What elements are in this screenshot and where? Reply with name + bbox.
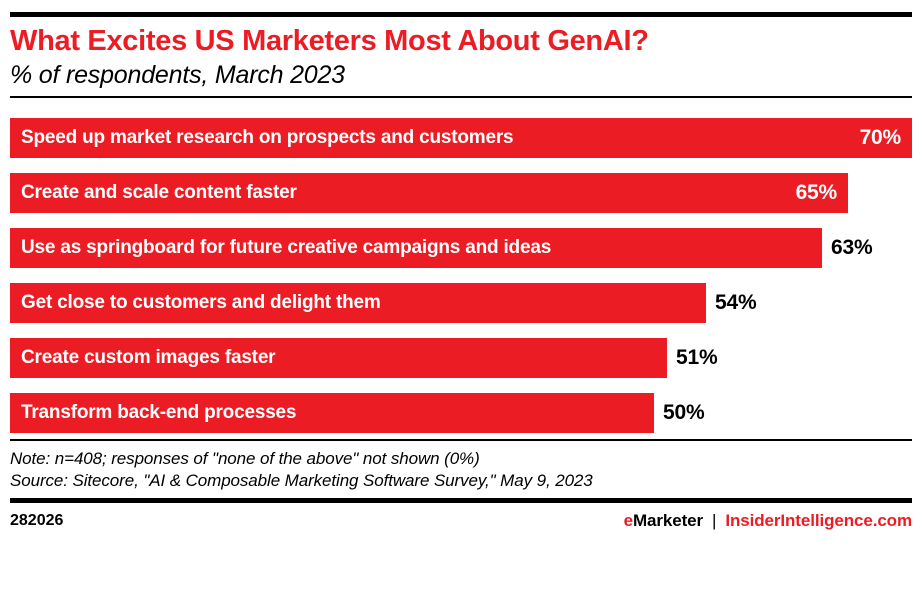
bar-chart-plot: Speed up market research on prospects an… xyxy=(10,98,912,439)
brand-separator: | xyxy=(703,511,725,531)
bar-value: 63% xyxy=(822,228,872,268)
brand-prefix: e xyxy=(624,511,633,531)
bar-label: Create and scale content faster xyxy=(10,173,297,213)
chart-footer: 282026 eMarketer | InsiderIntelligence.c… xyxy=(10,503,912,531)
chart-id: 282026 xyxy=(10,512,63,530)
bar-value: 65% xyxy=(796,173,837,213)
bar-label: Transform back-end processes xyxy=(10,393,296,433)
bar[interactable]: Use as springboard for future creative c… xyxy=(10,228,822,268)
bar[interactable]: Speed up market research on prospects an… xyxy=(10,118,912,158)
bar[interactable]: Transform back-end processes xyxy=(10,393,654,433)
bar-row[interactable]: Transform back-end processes50% xyxy=(10,393,912,433)
bar-label: Use as springboard for future creative c… xyxy=(10,228,551,268)
bar-value: 54% xyxy=(706,283,756,323)
bar-row[interactable]: Speed up market research on prospects an… xyxy=(10,118,912,158)
chart-subtitle: % of respondents, March 2023 xyxy=(10,58,912,96)
brand-website-link[interactable]: InsiderIntelligence.com xyxy=(725,511,912,531)
bar-row[interactable]: Get close to customers and delight them5… xyxy=(10,283,912,323)
bar[interactable]: Create custom images faster xyxy=(10,338,667,378)
bar-label: Get close to customers and delight them xyxy=(10,283,381,323)
chart-header: What Excites US Marketers Most About Gen… xyxy=(10,17,912,96)
bar-row[interactable]: Use as springboard for future creative c… xyxy=(10,228,912,268)
bar-row[interactable]: Create and scale content faster65% xyxy=(10,173,912,213)
chart-notes: Note: n=408; responses of "none of the a… xyxy=(10,441,912,498)
bar-value: 51% xyxy=(667,338,717,378)
bar-value: 70% xyxy=(860,118,901,158)
brand-lockup: eMarketer | InsiderIntelligence.com xyxy=(624,511,912,531)
bar-label: Speed up market research on prospects an… xyxy=(10,118,513,158)
note-text: Note: n=408; responses of "none of the a… xyxy=(10,448,912,470)
chart-title: What Excites US Marketers Most About Gen… xyxy=(10,24,912,58)
bar[interactable]: Create and scale content faster65% xyxy=(10,173,848,213)
bar-label: Create custom images faster xyxy=(10,338,275,378)
bar-value: 50% xyxy=(654,393,704,433)
chart-card: What Excites US Marketers Most About Gen… xyxy=(0,12,922,601)
source-text: Source: Sitecore, "AI & Composable Marke… xyxy=(10,470,912,492)
brand-name: Marketer xyxy=(633,511,703,531)
bar-row[interactable]: Create custom images faster51% xyxy=(10,338,912,378)
bar[interactable]: Get close to customers and delight them xyxy=(10,283,706,323)
